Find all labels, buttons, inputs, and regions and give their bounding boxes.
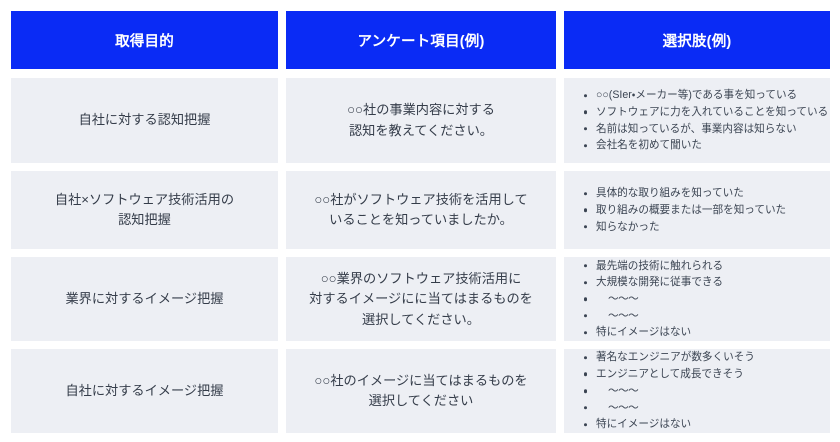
cell-purpose: 業界に対するイメージ把握 xyxy=(11,257,278,341)
table-row: 自社に対するイメージ把握 ○○社のイメージに当てはまるものを 選択してください … xyxy=(11,349,830,433)
option-list: 具体的な取り組みを知っていた 取り組みの概要または一部を知っていた 知らなかった xyxy=(578,185,830,235)
purpose-text: 自社×ソフトウェア技術活用の 認知把握 xyxy=(45,190,244,231)
list-item: 〜〜〜 xyxy=(578,308,830,325)
list-item: エンジニアとして成長できそう xyxy=(578,366,830,383)
column-header-question: アンケート項目(例) xyxy=(286,11,556,69)
list-item: 具体的な取り組みを知っていた xyxy=(578,185,830,202)
cell-options: 最先端の技術に触れられる 大規模な開発に従事できる 〜〜〜 〜〜〜 特にイメージ… xyxy=(564,257,830,341)
list-item: ○○(SIer・メーカー等)である事を知っている xyxy=(578,87,830,104)
purpose-text: 業界に対するイメージ把握 xyxy=(56,289,234,309)
table-row: 業界に対するイメージ把握 ○○業界のソフトウェア技術活用に 対するイメージにに当… xyxy=(11,257,830,341)
cell-question: ○○業界のソフトウェア技術活用に 対するイメージにに当てはまるものを 選択してく… xyxy=(286,257,556,341)
purpose-text: 自社に対する認知把握 xyxy=(69,110,221,130)
cell-purpose: 自社×ソフトウェア技術活用の 認知把握 xyxy=(11,171,278,249)
cell-options: 具体的な取り組みを知っていた 取り組みの概要または一部を知っていた 知らなかった xyxy=(564,171,830,249)
list-item: 〜〜〜 xyxy=(578,383,830,400)
table-row: 自社×ソフトウェア技術活用の 認知把握 ○○社がソフトウェア技術を活用して いる… xyxy=(11,171,830,249)
purpose-text: 自社に対するイメージ把握 xyxy=(56,381,234,401)
cell-purpose: 自社に対する認知把握 xyxy=(11,78,278,163)
list-item: 著名なエンジニアが数多くいそう xyxy=(578,349,830,366)
survey-design-table: 取得目的 アンケート項目(例) 選択肢(例) 自社に対する認知把握 ○○社の事業… xyxy=(0,0,840,442)
list-item: 取り組みの概要または一部を知っていた xyxy=(578,202,830,219)
option-list: 最先端の技術に触れられる 大規模な開発に従事できる 〜〜〜 〜〜〜 特にイメージ… xyxy=(578,258,830,342)
list-item: 特にイメージはない xyxy=(578,324,830,341)
list-item: 知らなかった xyxy=(578,219,830,236)
list-item: 〜〜〜 xyxy=(578,400,830,417)
option-list: 著名なエンジニアが数多くいそう エンジニアとして成長できそう 〜〜〜 〜〜〜 特… xyxy=(578,349,830,433)
question-text: ○○業界のソフトウェア技術活用に 対するイメージにに当てはまるものを 選択してく… xyxy=(299,269,543,330)
column-header-options: 選択肢(例) xyxy=(564,11,830,69)
question-text: ○○社の事業内容に対する 認知を教えてください。 xyxy=(337,100,505,141)
cell-purpose: 自社に対するイメージ把握 xyxy=(11,349,278,433)
table-header-row: 取得目的 アンケート項目(例) 選択肢(例) xyxy=(11,11,830,69)
list-item: 大規模な開発に従事できる xyxy=(578,274,830,291)
list-item: ソフトウェアに力を入れていることを知っている xyxy=(578,104,830,121)
list-item: 最先端の技術に触れられる xyxy=(578,258,830,275)
list-item: 〜〜〜 xyxy=(578,291,830,308)
cell-options: 著名なエンジニアが数多くいそう エンジニアとして成長できそう 〜〜〜 〜〜〜 特… xyxy=(564,349,830,433)
cell-question: ○○社の事業内容に対する 認知を教えてください。 xyxy=(286,78,556,163)
option-list: ○○(SIer・メーカー等)である事を知っている ソフトウェアに力を入れているこ… xyxy=(578,87,830,154)
table-row: 自社に対する認知把握 ○○社の事業内容に対する 認知を教えてください。 ○○(S… xyxy=(11,78,830,163)
question-text: ○○社のイメージに当てはまるものを 選択してください xyxy=(304,371,537,412)
column-header-purpose: 取得目的 xyxy=(11,11,278,69)
cell-question: ○○社がソフトウェア技術を活用して いることを知っていましたか。 xyxy=(286,171,556,249)
cell-options: ○○(SIer・メーカー等)である事を知っている ソフトウェアに力を入れているこ… xyxy=(564,78,830,163)
list-item: 名前は知っているが、事業内容は知らない xyxy=(578,121,830,138)
cell-question: ○○社のイメージに当てはまるものを 選択してください xyxy=(286,349,556,433)
list-item: 特にイメージはない xyxy=(578,416,830,433)
list-item: 会社名を初めて聞いた xyxy=(578,137,830,154)
question-text: ○○社がソフトウェア技術を活用して いることを知っていましたか。 xyxy=(304,190,537,231)
